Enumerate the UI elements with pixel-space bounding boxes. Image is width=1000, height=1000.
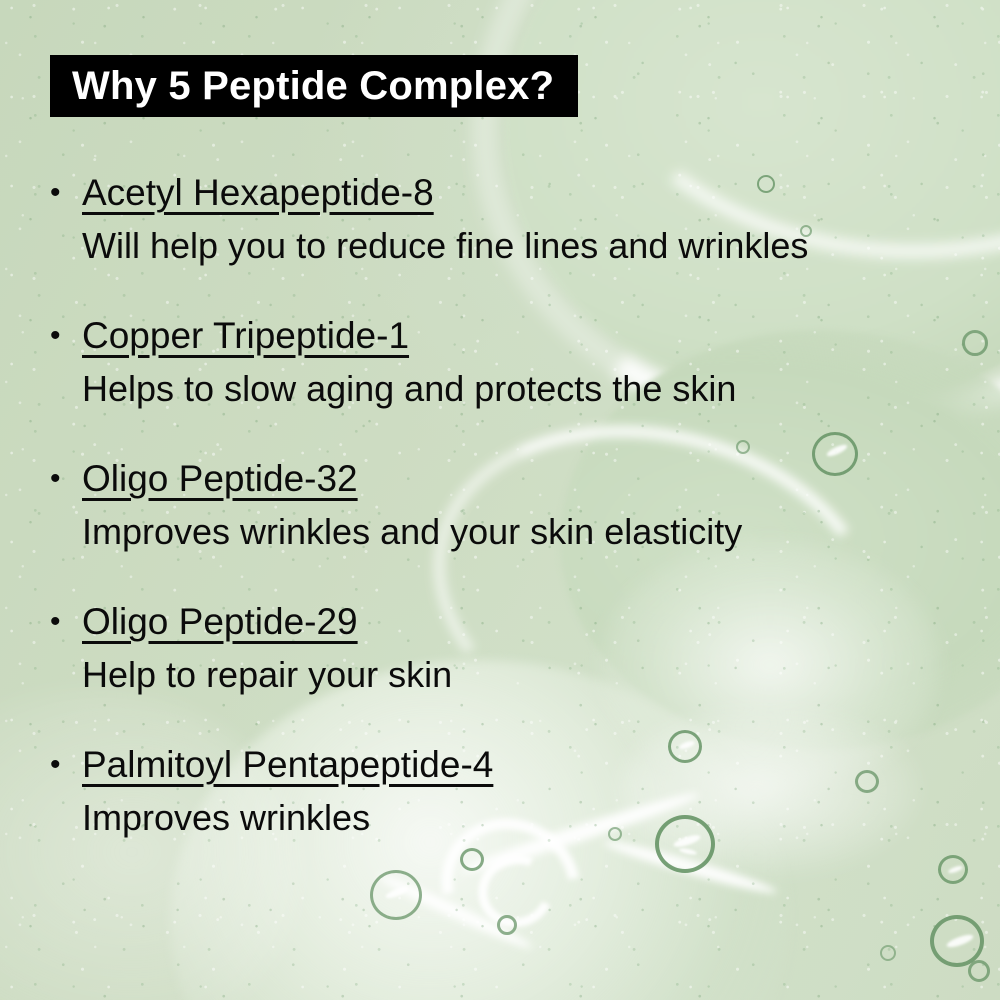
list-item-heading: • Oligo Peptide-29 [50,599,960,645]
list-item: • Oligo Peptide-29 Help to repair your s… [50,599,960,699]
bubble-icon [497,915,517,935]
list-item: • Oligo Peptide-32 Improves wrinkles and… [50,456,960,556]
peptide-list: • Acetyl Hexapeptide-8 Will help you to … [50,170,960,842]
list-item-heading: • Palmitoyl Pentapeptide-4 [50,742,960,788]
peptide-description: Help to repair your skin [82,651,960,699]
peptide-name: Oligo Peptide-29 [82,599,358,645]
list-item-heading: • Copper Tripeptide-1 [50,313,960,359]
list-item: • Palmitoyl Pentapeptide-4 Improves wrin… [50,742,960,842]
bubble-icon [460,848,484,871]
peptide-name: Oligo Peptide-32 [82,456,358,502]
bullet-point-icon: • [50,599,82,645]
peptide-name: Acetyl Hexapeptide-8 [82,170,434,216]
list-item: • Copper Tripeptide-1 Helps to slow agin… [50,313,960,413]
peptide-description: Will help you to reduce fine lines and w… [82,222,960,270]
list-item-heading: • Oligo Peptide-32 [50,456,960,502]
page-title: Why 5 Peptide Complex? [72,66,554,106]
bubble-icon [962,330,988,356]
peptide-description: Improves wrinkles [82,794,960,842]
bubble-icon [370,870,422,920]
peptide-name: Palmitoyl Pentapeptide-4 [82,742,493,788]
bubble-icon [930,915,984,967]
bullet-point-icon: • [50,456,82,502]
list-item-heading: • Acetyl Hexapeptide-8 [50,170,960,216]
bubble-icon [880,945,896,961]
peptide-name: Copper Tripeptide-1 [82,313,409,359]
bullet-point-icon: • [50,313,82,359]
bullet-point-icon: • [50,170,82,216]
peptide-description: Improves wrinkles and your skin elastici… [82,508,960,556]
peptide-description: Helps to slow aging and protects the ski… [82,365,960,413]
list-item: • Acetyl Hexapeptide-8 Will help you to … [50,170,960,270]
bullet-point-icon: • [50,742,82,788]
infographic-canvas: Why 5 Peptide Complex? • Acetyl Hexapept… [0,0,1000,1000]
bubble-icon [938,855,968,884]
title-banner: Why 5 Peptide Complex? [50,55,578,117]
bubble-icon [968,960,990,982]
